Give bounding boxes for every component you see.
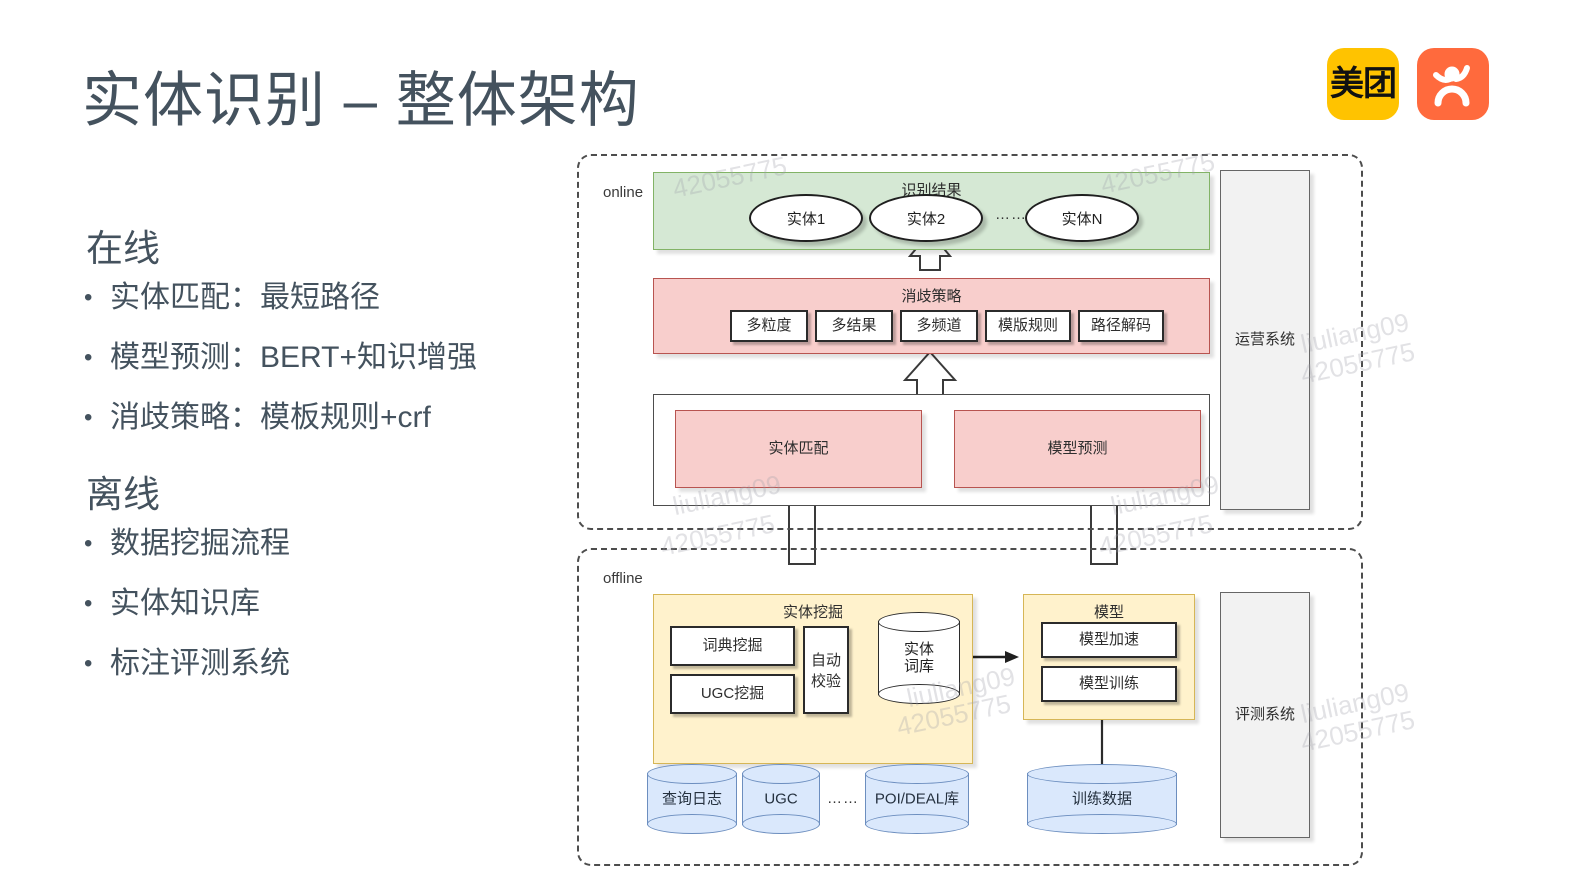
- list-item-label: 标注评测系统: [110, 644, 290, 684]
- disambiguation-strategy-title: 消歧策略: [654, 285, 1209, 306]
- list-item: • 模型预测：BERT+知识增强: [80, 338, 477, 378]
- meituan-logo-text: 美团: [1330, 67, 1396, 101]
- bullet-marker: •: [80, 338, 110, 378]
- offline-bullet-list: • 数据挖掘流程 • 实体知识库 • 标注评测系统: [80, 524, 290, 704]
- model-prediction-box[interactable]: 模型预测: [954, 410, 1201, 488]
- bullet-marker: •: [80, 644, 110, 684]
- operations-system-sidebar[interactable]: 运营系统: [1220, 170, 1310, 510]
- offline-zone-label: offline: [603, 570, 643, 587]
- strategy-item-multi-result[interactable]: 多结果: [815, 310, 893, 342]
- entity-lexicon-line2: 词库: [878, 658, 960, 675]
- auto-verify-line1: 自动: [811, 649, 841, 670]
- list-item: • 标注评测系统: [80, 644, 290, 684]
- list-item: • 实体匹配：最短路径: [80, 278, 477, 318]
- architecture-diagram: online 识别结果 实体1 实体2 …… 实体N 消歧策略 多粒度 多结果 …: [575, 152, 1365, 866]
- list-item-label: 模型预测：BERT+知识增强: [110, 338, 477, 378]
- ugc-mining-box[interactable]: UGC挖掘: [670, 674, 795, 714]
- bullet-marker: •: [80, 278, 110, 318]
- bullet-marker: •: [80, 524, 110, 564]
- list-item-label: 实体知识库: [110, 584, 260, 624]
- source-label: UGC: [742, 790, 820, 807]
- dianping-logo: [1417, 48, 1489, 120]
- dianping-kangaroo-icon: [1427, 58, 1479, 110]
- source-cylinder-poi-deal[interactable]: POI/DEAL库: [865, 764, 969, 834]
- source-label: 训练数据: [1027, 790, 1177, 807]
- entity-ellipse-1[interactable]: 实体1: [749, 194, 863, 242]
- page-title: 实体识别 – 整体架构: [82, 52, 640, 139]
- online-heading: 在线: [86, 218, 160, 272]
- entity-lexicon-line1: 实体: [878, 641, 960, 658]
- model-acceleration-box[interactable]: 模型加速: [1041, 622, 1177, 658]
- model-title: 模型: [1024, 601, 1194, 622]
- list-item: • 实体知识库: [80, 584, 290, 624]
- entity-lexicon-cylinder[interactable]: 实体 词库: [878, 612, 960, 704]
- list-item: • 数据挖掘流程: [80, 524, 290, 564]
- bullet-marker: •: [80, 398, 110, 438]
- strategy-item-path-decode[interactable]: 路径解码: [1078, 310, 1164, 342]
- list-item-label: 数据挖掘流程: [110, 524, 290, 564]
- source-ellipsis: ……: [827, 790, 859, 807]
- auto-verify-box[interactable]: 自动 校验: [803, 626, 849, 714]
- online-zone-label: online: [603, 184, 643, 201]
- entity-ellipse-2[interactable]: 实体2: [869, 194, 983, 242]
- bullet-marker: •: [80, 584, 110, 624]
- strategy-item-template-rule[interactable]: 模版规则: [985, 310, 1071, 342]
- entity-ellipsis: ……: [995, 206, 1027, 223]
- online-bullet-list: • 实体匹配：最短路径 • 模型预测：BERT+知识增强 • 消歧策略：模板规则…: [80, 278, 477, 458]
- offline-heading: 离线: [86, 464, 160, 518]
- strategy-item-multi-channel[interactable]: 多频道: [900, 310, 978, 342]
- model-training-box[interactable]: 模型训练: [1041, 666, 1177, 702]
- source-label: 查询日志: [647, 790, 737, 807]
- source-cylinder-training-data[interactable]: 训练数据: [1027, 764, 1177, 834]
- meituan-logo: 美团: [1327, 48, 1399, 120]
- evaluation-system-sidebar[interactable]: 评测系统: [1220, 592, 1310, 838]
- auto-verify-line2: 校验: [811, 670, 841, 691]
- source-cylinder-query-log[interactable]: 查询日志: [647, 764, 737, 834]
- list-item-label: 消歧策略：模板规则+crf: [110, 398, 431, 438]
- list-item-label: 实体匹配：最短路径: [110, 278, 380, 318]
- dictionary-mining-box[interactable]: 词典挖掘: [670, 626, 795, 666]
- entity-ellipse-n[interactable]: 实体N: [1025, 194, 1139, 242]
- entity-matching-box[interactable]: 实体匹配: [675, 410, 922, 488]
- list-item: • 消歧策略：模板规则+crf: [80, 398, 477, 438]
- strategy-item-multi-granularity[interactable]: 多粒度: [730, 310, 808, 342]
- source-label: POI/DEAL库: [865, 790, 969, 807]
- source-cylinder-ugc[interactable]: UGC: [742, 764, 820, 834]
- brand-logos: 美团: [1327, 48, 1489, 120]
